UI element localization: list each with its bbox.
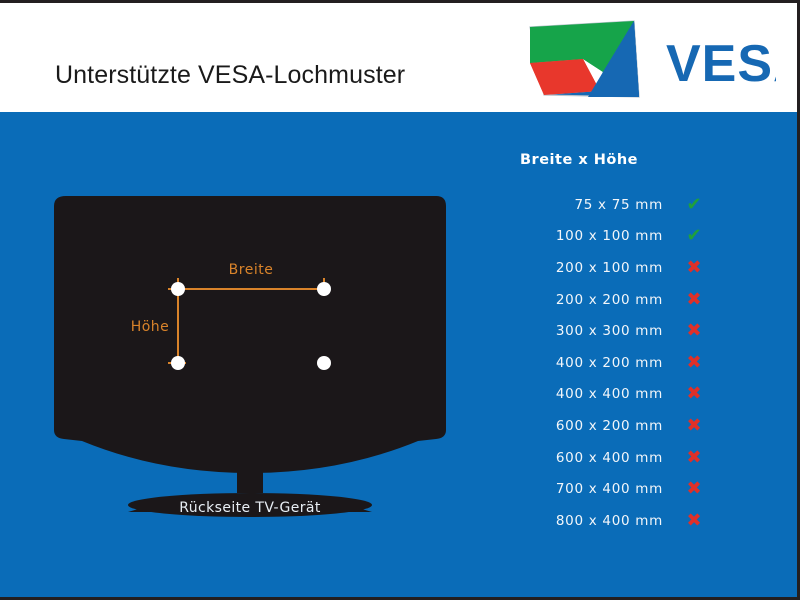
vesa-logo-mark (530, 21, 639, 97)
cross-icon: ✖ (663, 480, 725, 498)
table-row: 600 x 400 mm ✖ (498, 442, 728, 474)
vesa-info-page: Unterstützte VESA-Lochmuster (0, 0, 800, 600)
cross-icon: ✖ (663, 322, 725, 340)
cross-icon: ✖ (663, 449, 725, 467)
vesa-size-label: 300 x 300 mm (498, 323, 663, 339)
vesa-size-label: 200 x 100 mm (498, 260, 663, 276)
check-icon: ✔ (663, 227, 725, 245)
label-hoehe: Höhe (131, 319, 170, 335)
cross-icon: ✖ (663, 259, 725, 277)
table-column-header: Breite x Höhe (498, 152, 728, 168)
vesa-size-label: 400 x 200 mm (498, 355, 663, 371)
tv-back-diagram: Breite Höhe (40, 192, 460, 522)
table-row: 75 x 75 mm ✔ (498, 189, 728, 221)
vesa-wordmark: VESA (666, 35, 776, 93)
vesa-size-label: 800 x 400 mm (498, 513, 663, 529)
vesa-size-label: 75 x 75 mm (498, 197, 663, 213)
main-blue-panel: Breite Höhe Rückseite TV-Gerät Breite x … (0, 112, 797, 600)
vesa-pattern-table: Breite x Höhe 75 x 75 mm ✔ 100 x 100 mm … (498, 152, 728, 537)
vesa-size-label: 600 x 400 mm (498, 450, 663, 466)
table-row: 600 x 200 mm ✖ (498, 410, 728, 442)
page-title: Unterstützte VESA-Lochmuster (55, 61, 405, 90)
vesa-size-label: 100 x 100 mm (498, 228, 663, 244)
vesa-size-label: 400 x 400 mm (498, 386, 663, 402)
page-header: Unterstützte VESA-Lochmuster (0, 3, 797, 112)
mount-hole-bottom-left (171, 356, 185, 370)
label-breite: Breite (229, 262, 274, 278)
tv-body (54, 196, 446, 473)
vesa-size-label: 600 x 200 mm (498, 418, 663, 434)
mount-hole-top-left (171, 282, 185, 296)
vesa-size-label: 700 x 400 mm (498, 481, 663, 497)
cross-icon: ✖ (663, 385, 725, 403)
mount-hole-bottom-right (317, 356, 331, 370)
table-row: 400 x 200 mm ✖ (498, 347, 728, 379)
cross-icon: ✖ (663, 512, 725, 530)
table-row: 700 x 400 mm ✖ (498, 473, 728, 505)
table-row: 200 x 200 mm ✖ (498, 284, 728, 316)
tv-neck (237, 463, 263, 493)
table-row: 100 x 100 mm ✔ (498, 221, 728, 253)
check-icon: ✔ (663, 196, 725, 214)
table-row: 300 x 300 mm ✖ (498, 315, 728, 347)
table-row: 200 x 100 mm ✖ (498, 252, 728, 284)
tv-diagram-caption: Rückseite TV-Gerät (40, 500, 460, 516)
cross-icon: ✖ (663, 291, 725, 309)
mount-hole-top-right (317, 282, 331, 296)
table-row: 800 x 400 mm ✖ (498, 505, 728, 537)
logo-red-wedge-2 (530, 59, 600, 95)
cross-icon: ✖ (663, 417, 725, 435)
vesa-logo: VESA (526, 19, 776, 101)
table-row: 400 x 400 mm ✖ (498, 379, 728, 411)
cross-icon: ✖ (663, 354, 725, 372)
vesa-size-label: 200 x 200 mm (498, 292, 663, 308)
